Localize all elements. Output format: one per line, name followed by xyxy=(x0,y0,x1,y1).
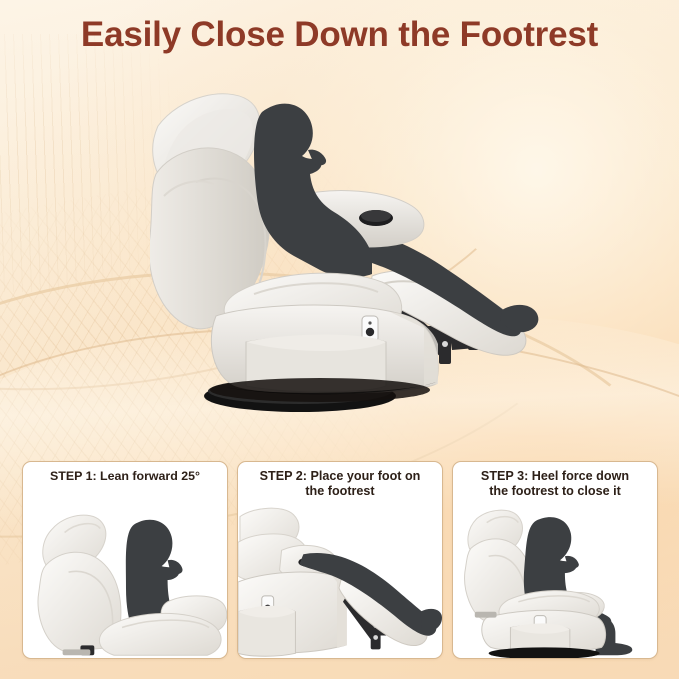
step-3-caption-line-2: the footrest to close it xyxy=(461,484,649,499)
step-1-caption: STEP 1: Lean forward 25° xyxy=(23,462,227,484)
page-title: Easily Close Down the Footrest xyxy=(0,16,679,55)
step-1-caption-line-1: STEP 1: Lean forward 25° xyxy=(31,469,219,484)
step-2-caption-line-1: STEP 2: Place your foot on xyxy=(246,469,434,484)
step-panel-3[interactable]: STEP 3: Heel force down the footrest to … xyxy=(452,461,658,659)
step-panels: STEP 1: Lean forward 25° xyxy=(22,461,658,659)
step-3-caption: STEP 3: Heel force down the footrest to … xyxy=(453,462,657,500)
step-3-caption-line-1: STEP 3: Heel force down xyxy=(461,469,649,484)
step-panel-1[interactable]: STEP 1: Lean forward 25° xyxy=(22,461,228,659)
hero-recliner-image xyxy=(150,78,580,418)
step-panel-2[interactable]: STEP 2: Place your foot on the footrest xyxy=(237,461,443,659)
step-2-caption: STEP 2: Place your foot on the footrest xyxy=(238,462,442,500)
step-1-illustration xyxy=(23,506,227,658)
step-3-illustration xyxy=(453,506,657,658)
product-infographic-poster: Easily Close Down the Footrest xyxy=(0,0,679,679)
step-2-caption-line-2: the footrest xyxy=(246,484,434,499)
step-2-illustration xyxy=(238,506,442,658)
